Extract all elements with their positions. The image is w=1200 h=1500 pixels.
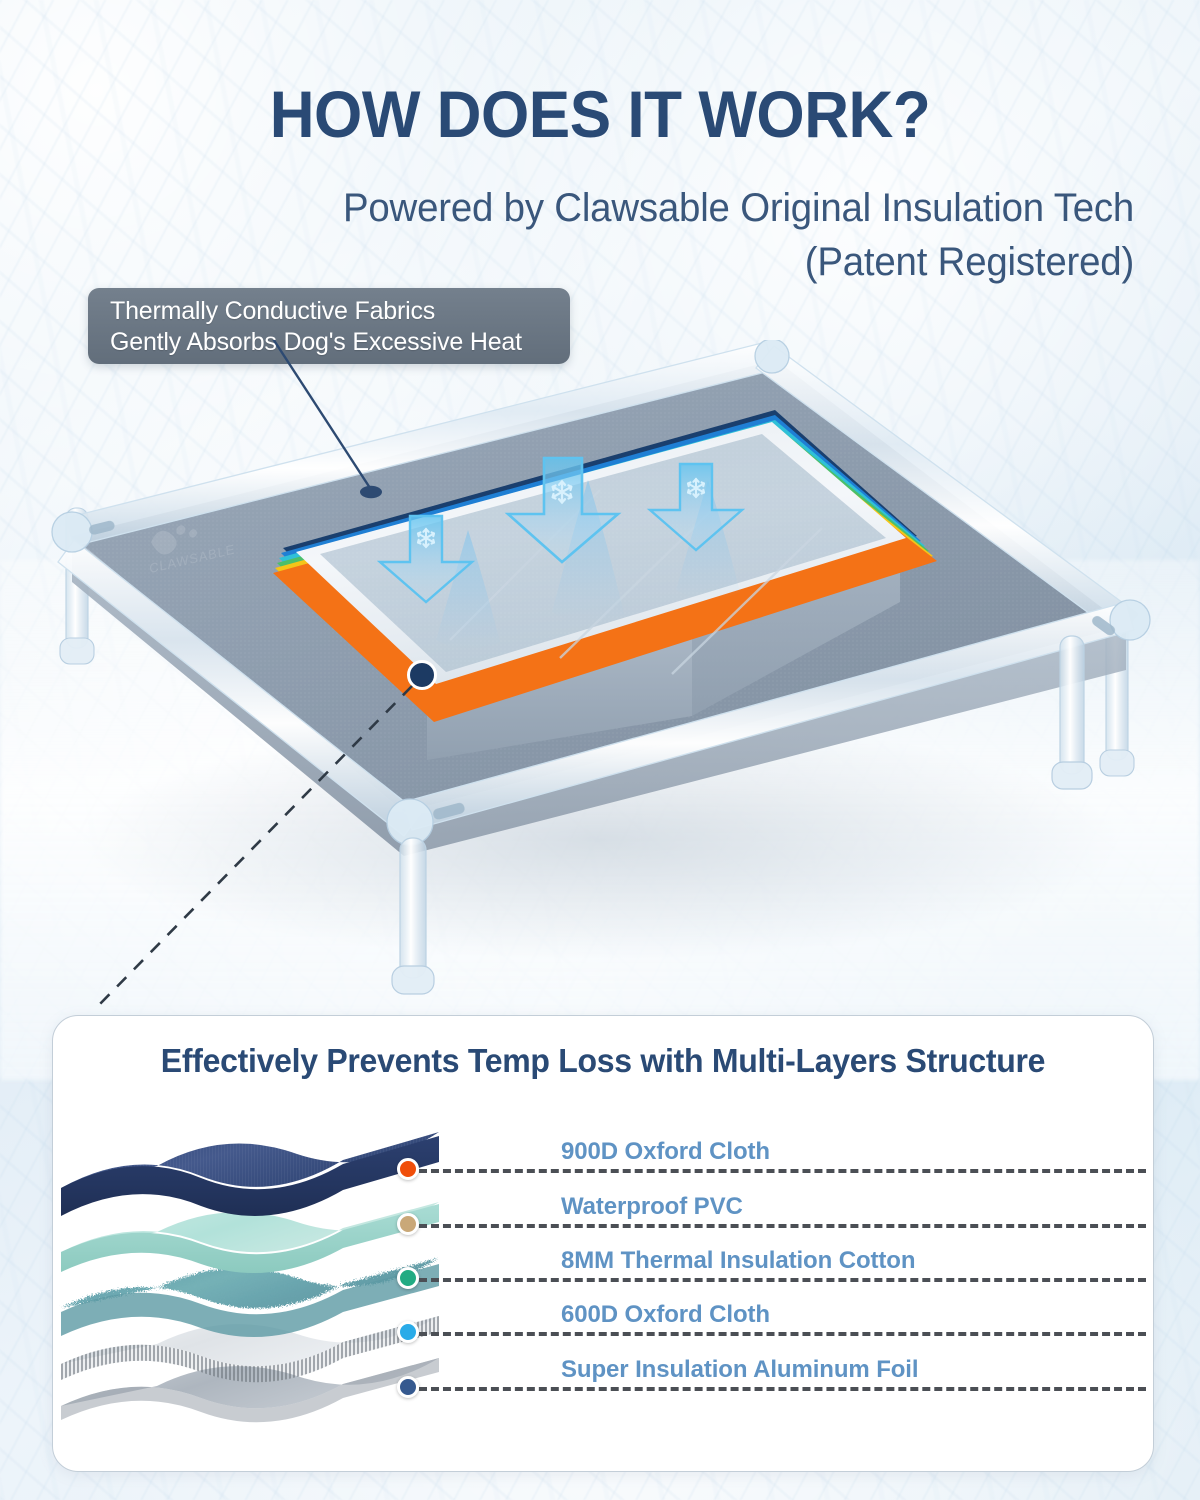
panel-title: Effectively Prevents Temp Loss with Mult…	[70, 1042, 1137, 1080]
layer-dot-3[interactable]	[397, 1267, 419, 1289]
callout-leader-dot	[360, 486, 382, 498]
layer-dot-4[interactable]	[397, 1321, 419, 1343]
layer-dash-4	[419, 1332, 1146, 1336]
layer-dash-3	[419, 1278, 1146, 1282]
layer-1-900d-oxford	[61, 1132, 439, 1216]
layer-label-5: Super Insulation Aluminum Foil	[561, 1356, 918, 1384]
corner-joint-front-right	[1110, 600, 1150, 640]
layer-dash-5	[419, 1387, 1146, 1391]
multilayer-anchor-dot	[409, 662, 436, 689]
layer-dot-5[interactable]	[397, 1376, 419, 1398]
layer-dash-1	[419, 1169, 1146, 1173]
subtitle-line-two: (Patent Registered)	[805, 240, 1134, 285]
hero-elevated-bed-illustration: CLAWSABLE	[0, 340, 1200, 1030]
corner-joint-back-left	[52, 512, 92, 552]
multilayer-structure-panel: Effectively Prevents Temp Loss with Mult…	[52, 1015, 1154, 1472]
layer-label-1: 900D Oxford Cloth	[561, 1138, 770, 1166]
layer-dash-2	[419, 1224, 1146, 1228]
layer-label-2: Waterproof PVC	[561, 1193, 743, 1221]
layer-label-3: 8MM Thermal Insulation Cotton	[561, 1247, 915, 1275]
layer-label-4: 600D Oxford Cloth	[561, 1301, 770, 1329]
callout-line-one: Thermally Conductive Fabrics	[110, 296, 570, 327]
corner-joint-back-right	[755, 340, 789, 373]
layer-dot-2[interactable]	[397, 1213, 419, 1235]
subtitle-line-one: Powered by Clawsable Original Insulation…	[343, 186, 1134, 231]
page-title: HOW DOES IT WORK?	[36, 76, 1164, 152]
layer-dot-1[interactable]	[397, 1158, 419, 1180]
header-block: HOW DOES IT WORK? Powered by Clawsable O…	[0, 0, 1200, 300]
